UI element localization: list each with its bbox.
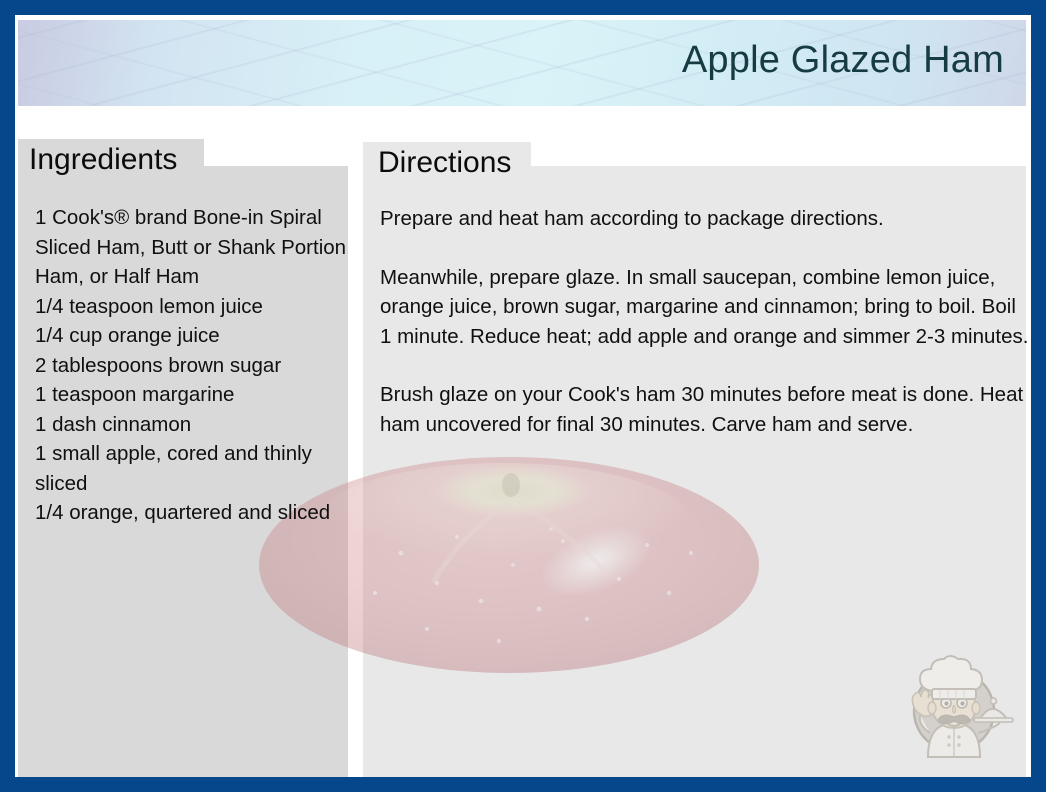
direction-paragraph: Brush glaze on your Cook's ham 30 minute… <box>380 380 1030 439</box>
direction-paragraph: Meanwhile, prepare glaze. In small sauce… <box>380 263 1030 352</box>
recipe-slide: Apple Glazed Ham <box>0 0 1046 792</box>
directions-text: Prepare and heat ham according to packag… <box>380 204 1030 439</box>
directions-tab: Directions <box>363 142 531 184</box>
ingredient-line: Ham, or Half Ham <box>35 262 355 292</box>
ingredient-line: 1/4 teaspoon lemon juice <box>35 292 355 322</box>
ingredients-list: 1 Cook's® brand Bone-in Spiral Sliced Ha… <box>35 203 355 528</box>
ingredient-line: 1 dash cinnamon <box>35 410 355 440</box>
title-banner: Apple Glazed Ham <box>18 20 1026 106</box>
ingredient-line: sliced <box>35 469 355 499</box>
slide-inner-canvas: Apple Glazed Ham <box>15 15 1031 777</box>
ingredients-heading: Ingredients <box>29 145 177 175</box>
ingredients-tab: Ingredients <box>18 139 204 181</box>
ingredient-line: 1/4 cup orange juice <box>35 321 355 351</box>
ingredient-line: Sliced Ham, Butt or Shank Portion <box>35 233 355 263</box>
ingredient-line: 1 teaspoon margarine <box>35 380 355 410</box>
directions-heading: Directions <box>378 148 511 178</box>
ingredient-line: 1 Cook's® brand Bone-in Spiral <box>35 203 355 233</box>
ingredient-line: 2 tablespoons brown sugar <box>35 351 355 381</box>
page-title: Apple Glazed Ham <box>682 39 1004 82</box>
direction-paragraph: Prepare and heat ham according to packag… <box>380 204 1030 234</box>
ingredient-line: 1 small apple, cored and thinly <box>35 439 355 469</box>
ingredient-line: 1/4 orange, quartered and sliced <box>35 498 355 528</box>
